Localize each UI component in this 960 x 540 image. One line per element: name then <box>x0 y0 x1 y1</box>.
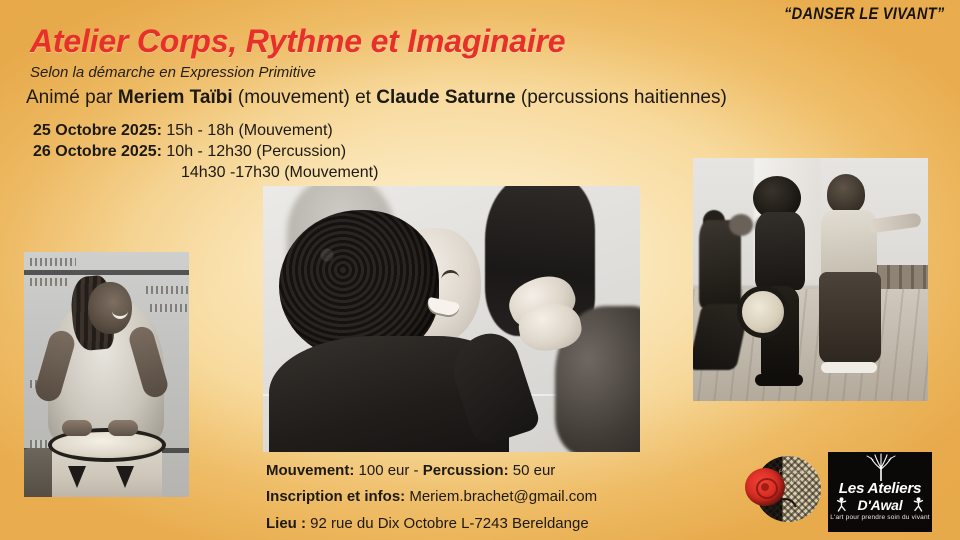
dates-block: 25 Octobre 2025: 15h - 18h (Mouvement) 2… <box>33 120 378 183</box>
date-value: 15h - 18h (Mouvement) <box>166 122 332 139</box>
tree-icon <box>864 453 898 481</box>
photo-laughing-woman <box>263 186 640 452</box>
dancer-afro-body <box>755 212 805 290</box>
dancer-afro-shoes <box>755 374 803 386</box>
frame-drum-icon <box>737 286 789 338</box>
drummer-hand-right <box>108 420 138 436</box>
poster-tagline: “DANSER LE VIVANT” <box>784 4 944 24</box>
date-row: 25 Octobre 2025: 15h - 18h (Mouvement) <box>33 120 378 141</box>
logo-line-2: D'Awal <box>828 497 932 513</box>
price-line: Mouvement: 100 eur - Percussion: 50 eur <box>266 458 597 484</box>
wall-stripe <box>24 270 189 275</box>
facilitator-name-1: Meriem Taïbi <box>118 87 233 108</box>
poster-subtitle: Selon la démarche en Expression Primitiv… <box>30 64 316 81</box>
rose-circle-logo: Pulsação Grão <box>745 452 823 530</box>
facilitators-prefix: Animé par <box>26 87 118 108</box>
dancer-woman-shoes <box>821 362 877 373</box>
contact-label: Inscription et infos: <box>266 488 405 505</box>
date-value: 14h30 -17h30 (Mouvement) <box>181 164 378 181</box>
background-person-head <box>729 214 753 236</box>
date-label: 25 Octobre 2025: <box>33 122 162 139</box>
price-label-percussion: Percussion: <box>423 462 509 479</box>
wall-texture <box>30 278 70 286</box>
poster-title: Atelier Corps, Rythme et Imaginaire <box>30 23 565 60</box>
date-row: 26 Octobre 2025: 10h - 12h30 (Percussion… <box>33 141 378 162</box>
photo-dance-studio <box>693 158 928 401</box>
price-value-percussion: 50 eur <box>509 462 556 479</box>
drum-lug <box>68 466 86 488</box>
price-value-mouvement: 100 eur - <box>354 462 422 479</box>
facilitator-name-2: Claude Saturne <box>376 87 515 108</box>
date-value: 10h - 12h30 (Percussion) <box>166 143 346 160</box>
drummer-hand-left <box>62 420 92 436</box>
wall-texture <box>150 304 188 312</box>
drum-lug <box>116 466 134 488</box>
logo-tagline: L'art pour prendre soin du vivant <box>828 514 932 521</box>
contact-email[interactable]: Meriem.brachet@gmail.com <box>405 488 597 505</box>
les-ateliers-dawal-logo: Les Ateliers D'Awal L'art pour prendre s… <box>828 452 932 532</box>
facilitator-role-2: (percussions haitiennes) <box>516 87 727 108</box>
wall-texture <box>30 258 76 266</box>
rose-icon <box>745 468 785 506</box>
facilitators-line: Animé par Meriem Taïbi (mouvement) et Cl… <box>26 87 727 109</box>
price-label-mouvement: Mouvement: <box>266 462 354 479</box>
facilitator-role-1: (mouvement) et <box>233 87 377 108</box>
contact-line: Inscription et infos: Meriem.brachet@gma… <box>266 484 597 510</box>
venue-label: Lieu : <box>266 515 306 532</box>
dancer-woman-skirt <box>819 272 881 364</box>
wall-texture <box>146 286 188 294</box>
venue-address: 92 rue du Dix Octobre L-7243 Bereldange <box>306 515 589 532</box>
date-label: 26 Octobre 2025: <box>33 143 162 160</box>
date-row: 14h30 -17h30 (Mouvement) <box>33 162 378 183</box>
dancer-woman-top <box>821 210 877 278</box>
photo-drummer <box>24 252 189 497</box>
poster-canvas: “DANSER LE VIVANT” Atelier Corps, Rythme… <box>0 0 960 540</box>
venue-line: Lieu : 92 rue du Dix Octobre L-7243 Bere… <box>266 511 597 537</box>
logo-line-1: Les Ateliers <box>828 480 932 497</box>
dancer-woman-hair <box>827 174 865 214</box>
info-block: Mouvement: 100 eur - Percussion: 50 eur … <box>266 458 597 537</box>
